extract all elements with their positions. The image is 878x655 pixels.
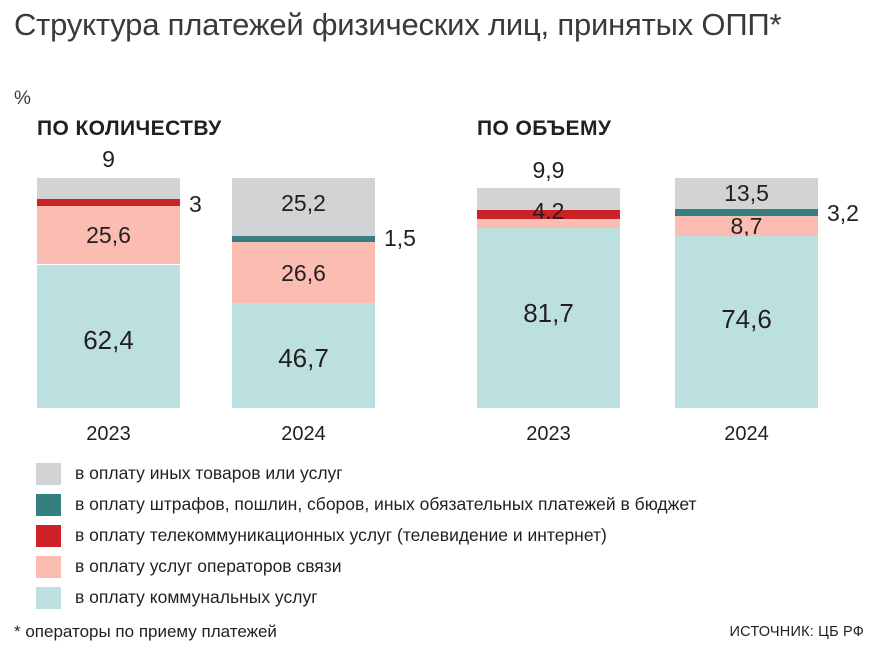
segment-telecom[interactable] xyxy=(37,199,180,206)
legend-item-telecom[interactable]: в оплату телекоммуникационных услуг (тел… xyxy=(36,520,836,551)
legend-label-other-goods: в оплату иных товаров или услуг xyxy=(75,465,343,483)
source-label: ИСТОЧНИК: ЦБ РФ xyxy=(730,624,864,640)
legend-label-budget: в оплату штрафов, пошлин, сборов, иных о… xyxy=(75,496,697,514)
bar-count-2024-utilities-label: 46,7 xyxy=(232,343,375,374)
segment-operators[interactable]: 26,6 xyxy=(232,242,375,303)
legend-label-operators: в оплату услуг операторов связи xyxy=(75,558,342,576)
bar-count-2024-operators-label: 26,6 xyxy=(232,260,375,287)
legend-swatch-telecom xyxy=(36,525,61,547)
footnote: * операторы по приему платежей xyxy=(14,622,277,642)
segment-operators[interactable]: 25,6 xyxy=(37,206,180,265)
legend-swatch-budget xyxy=(36,494,61,516)
legend-swatch-other-goods xyxy=(36,463,61,485)
bar-count-2023[interactable]: 9 3 25,6 62,4 xyxy=(37,178,180,408)
x-label-count-2024: 2024 xyxy=(232,423,375,446)
segment-other-goods[interactable] xyxy=(37,178,180,199)
legend-item-operators[interactable]: в оплату услуг операторов связи xyxy=(36,551,836,582)
bar-volume-2024-other-label: 13,5 xyxy=(675,180,818,207)
bar-volume-2024[interactable]: 13,5 3,2 8,7 74,6 xyxy=(675,178,818,408)
group-header-volume: ПО ОБЪЕМУ xyxy=(477,117,611,141)
bar-count-2023-telecom-label: 3 xyxy=(189,191,202,218)
segment-other-goods[interactable]: 13,5 xyxy=(675,178,818,209)
segment-utilities[interactable]: 46,7 xyxy=(232,303,375,408)
legend-label-utilities: в оплату коммунальных услуг xyxy=(75,589,318,607)
page-title: Структура платежей физических лиц, приня… xyxy=(14,6,844,43)
bar-volume-2023-utilities-label: 81,7 xyxy=(477,298,620,329)
legend-label-telecom: в оплату телекоммуникационных услуг (тел… xyxy=(75,527,607,545)
group-header-count: ПО КОЛИЧЕСТВУ xyxy=(37,117,222,141)
bar-count-2024-budget-label: 1,5 xyxy=(384,225,416,252)
x-label-volume-2024: 2024 xyxy=(675,423,818,446)
bar-count-2024-other-label: 25,2 xyxy=(232,190,375,217)
legend-item-budget[interactable]: в оплату штрафов, пошлин, сборов, иных о… xyxy=(36,489,836,520)
segment-utilities[interactable]: 81,7 xyxy=(477,228,620,408)
bar-count-2023-operators-label: 25,6 xyxy=(37,222,180,249)
segment-utilities[interactable]: 62,4 xyxy=(37,265,180,409)
segment-operators[interactable]: 8,7 xyxy=(675,216,818,236)
bar-count-2023-utilities-label: 62,4 xyxy=(37,325,180,356)
bar-volume-2023[interactable]: 9,9 4,2 4,2 81,7 xyxy=(477,188,620,408)
bar-volume-2024-utilities-label: 74,6 xyxy=(675,304,818,335)
legend-swatch-operators xyxy=(36,556,61,578)
chart-legend: в оплату иных товаров или услуг в оплату… xyxy=(36,458,836,613)
bar-count-2023-other-label: 9 xyxy=(37,146,180,173)
legend-item-other-goods[interactable]: в оплату иных товаров или услуг xyxy=(36,458,836,489)
bar-volume-2024-budget-label: 3,2 xyxy=(827,200,859,227)
legend-swatch-utilities xyxy=(36,587,61,609)
unit-label: % xyxy=(14,88,31,110)
legend-item-utilities[interactable]: в оплату коммунальных услуг xyxy=(36,582,836,613)
bar-count-2024[interactable]: 25,2 1,5 26,6 46,7 xyxy=(232,178,375,408)
x-label-count-2023: 2023 xyxy=(37,423,180,446)
segment-utilities[interactable]: 74,6 xyxy=(675,236,818,408)
bar-volume-2023-other-label: 9,9 xyxy=(477,157,620,184)
segment-other-goods[interactable]: 25,2 xyxy=(232,178,375,236)
x-label-volume-2023: 2023 xyxy=(477,423,620,446)
